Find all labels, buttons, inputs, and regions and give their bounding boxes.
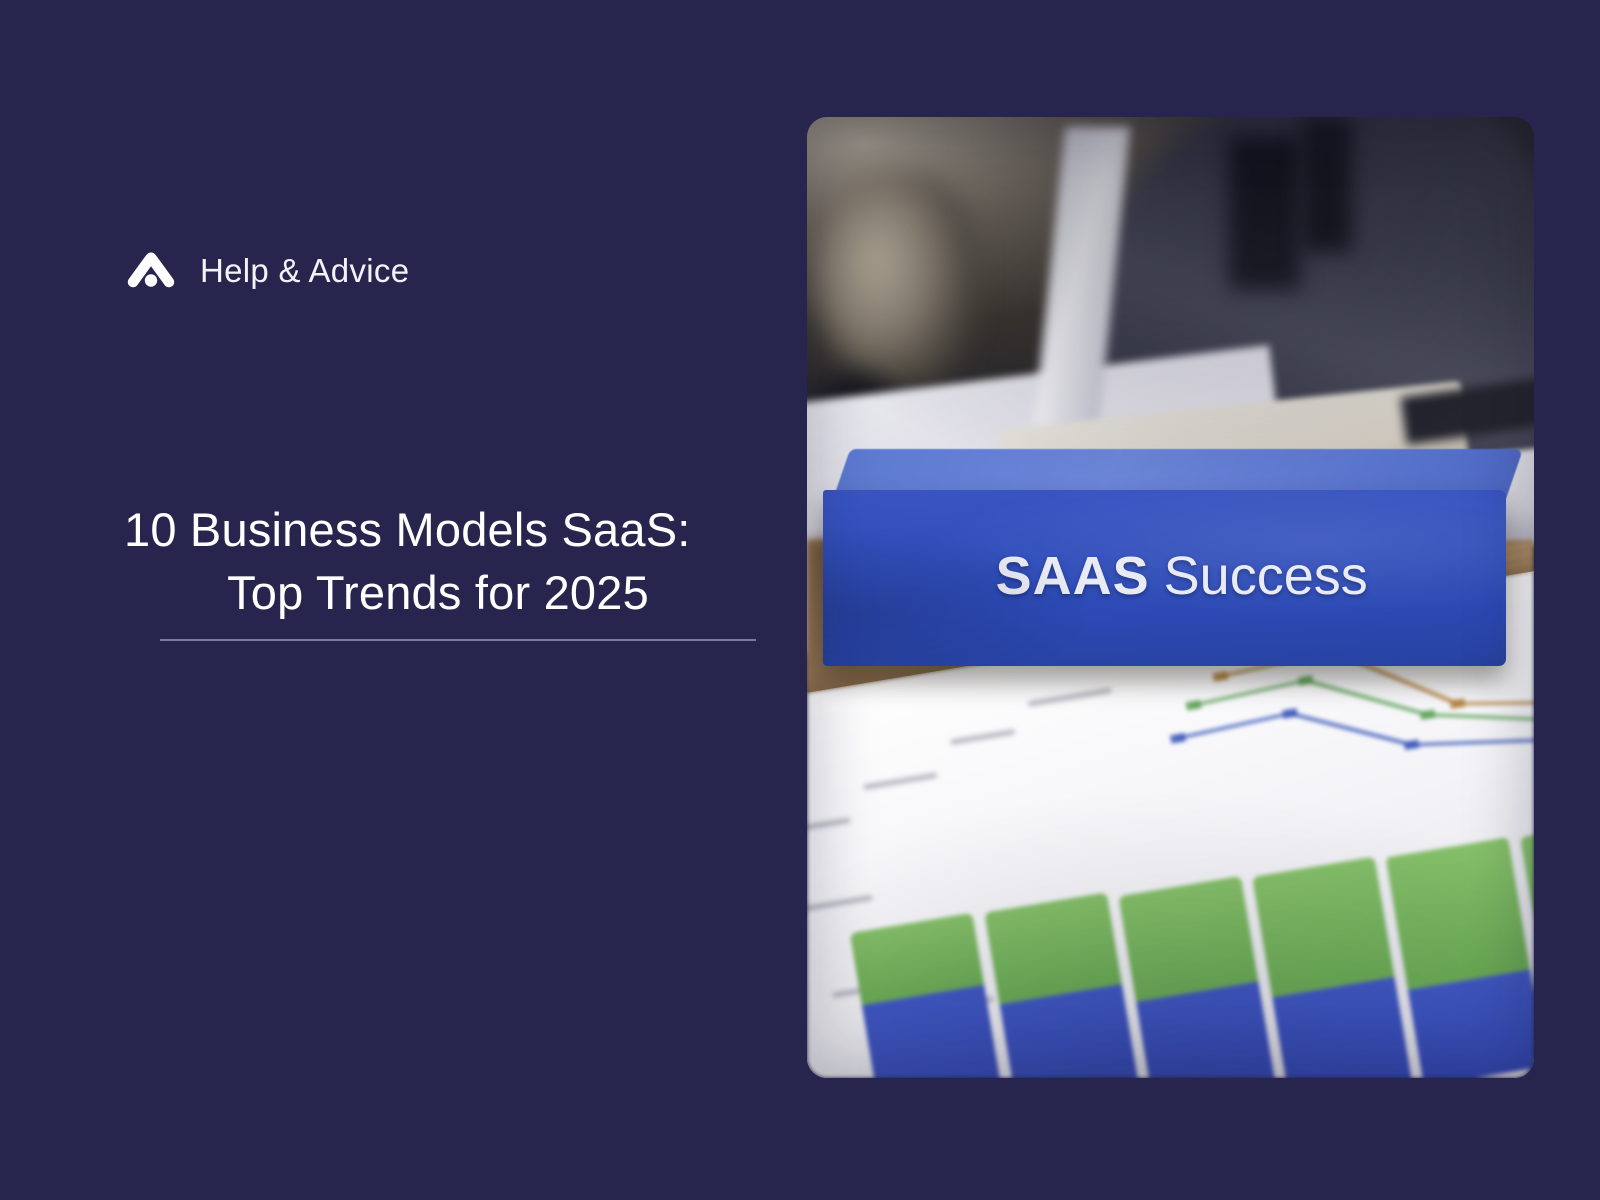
bar-column: [1386, 837, 1534, 1078]
cover-photo-card: SAASSuccess: [807, 117, 1534, 1078]
cover-photo: SAASSuccess: [807, 117, 1534, 1078]
photo-saas-block: SAASSuccess: [823, 449, 1506, 666]
bar-segment-green: [1119, 876, 1259, 1002]
photo-jacket-fold-a: [1229, 136, 1302, 290]
title-block: 10 Business Models SaaS: Top Trends for …: [124, 498, 764, 641]
report-text-line: [1029, 688, 1112, 707]
bar-segment-green: [1253, 857, 1396, 998]
bar-column: [1253, 857, 1414, 1078]
photo-saas-label-bold: SAAS: [996, 546, 1150, 606]
page-title: 10 Business Models SaaS: Top Trends for …: [124, 498, 764, 625]
photo-jacket-fold-b: [1301, 117, 1352, 252]
title-underline-rule: [160, 639, 756, 641]
photo-hand: [814, 175, 974, 386]
photo-saas-block-label: SAASSuccess: [823, 549, 1506, 603]
cover-canvas: Help & Advice 10 Business Models SaaS: T…: [0, 0, 1600, 1200]
bar-segment-blue: [1409, 970, 1534, 1078]
report-text-line: [950, 730, 1015, 746]
bar-segment-green: [1386, 837, 1531, 990]
photo-saas-block-front-face: SAASSuccess: [823, 490, 1506, 666]
page-title-line-2: Top Trends for 2025: [124, 561, 764, 624]
brand-name: Help & Advice: [200, 254, 409, 287]
chevron-peak-dot-logo-icon: [124, 243, 178, 297]
bar-column: [1119, 876, 1281, 1078]
photo-saas-label-regular: Success: [1164, 546, 1368, 606]
brand-lockup[interactable]: Help & Advice: [124, 240, 409, 300]
report-text-line: [807, 818, 851, 834]
page-title-line-1: 10 Business Models SaaS:: [124, 498, 764, 561]
report-text-line: [863, 773, 937, 790]
